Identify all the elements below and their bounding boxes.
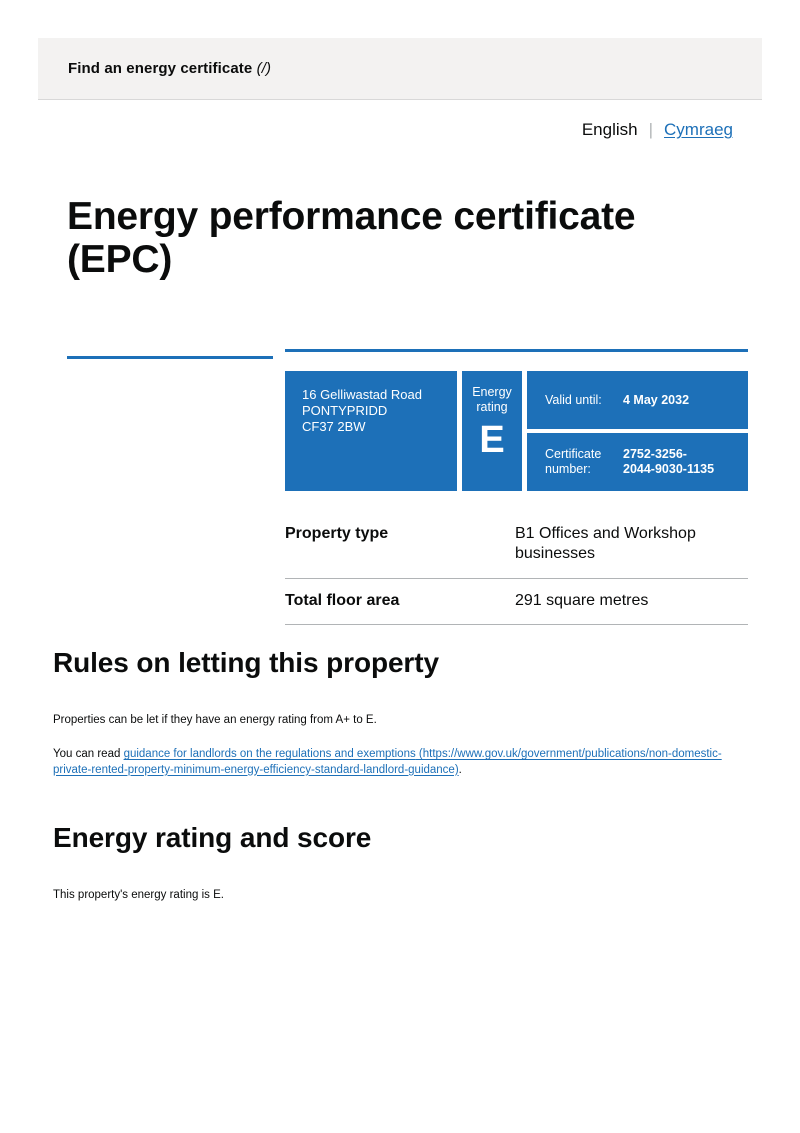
- page-title: Energy performance certificate (EPC): [67, 196, 727, 282]
- address-line-2: PONTYPRIDD: [302, 403, 457, 419]
- certificate-number-label-line-1: Certificate: [545, 447, 623, 462]
- service-name-label: Find an energy certificate: [68, 60, 252, 77]
- service-path-label: (/): [257, 60, 271, 77]
- energy-rating-label: Energy rating: [462, 385, 522, 415]
- landlord-guidance-link[interactable]: guidance for landlords on the regulation…: [53, 748, 722, 776]
- certificate-number-value-line-2: 2044-9030-1135: [623, 462, 714, 477]
- service-name[interactable]: Find an energy certificate (/): [68, 60, 271, 77]
- certificate-number-label: Certificate number:: [545, 447, 623, 477]
- energy-rating-label-line-2: rating: [462, 400, 522, 415]
- total-floor-area-value: 291 square metres: [515, 578, 748, 624]
- letting-rules-paragraph-2: You can read guidance for landlords on t…: [53, 747, 753, 778]
- table-row: Property type B1 Offices and Workshop bu…: [285, 512, 748, 578]
- certificate-number-label-line-2: number:: [545, 462, 623, 477]
- property-address-panel: 16 Gelliwastad Road PONTYPRIDD CF37 2BW: [285, 371, 457, 491]
- certificate-summary: 16 Gelliwastad Road PONTYPRIDD CF37 2BW …: [285, 371, 748, 491]
- letting-guidance-prefix: You can read: [53, 748, 124, 760]
- section-heading-letting-rules: Rules on letting this property: [53, 648, 439, 679]
- accent-rule-right: [285, 349, 748, 352]
- property-type-label: Property type: [285, 512, 515, 578]
- letting-guidance-suffix: .: [459, 764, 462, 776]
- certificate-number-value: 2752-3256- 2044-9030-1135: [623, 447, 714, 477]
- energy-rating-label-line-1: Energy: [462, 385, 522, 400]
- address-postcode: CF37 2BW: [302, 419, 457, 435]
- certificate-number-value-line-1: 2752-3256-: [623, 447, 714, 462]
- language-switcher: English | Cymraeg: [582, 121, 733, 138]
- section-heading-energy-rating-score: Energy rating and score: [53, 823, 371, 854]
- site-header: Find an energy certificate (/): [38, 38, 762, 100]
- accent-rule-left: [67, 356, 273, 359]
- valid-until-value-line-1: 4 May 2032: [623, 393, 689, 408]
- language-current-english: English: [582, 121, 638, 138]
- address-line-1: 16 Gelliwastad Road: [302, 387, 457, 403]
- total-floor-area-label: Total floor area: [285, 578, 515, 624]
- certificate-details-panel: Valid until: 4 May 2032 Certificate numb…: [527, 371, 748, 491]
- valid-until-row: Valid until: 4 May 2032: [527, 371, 748, 429]
- letting-rules-paragraph-1: Properties can be let if they have an en…: [53, 713, 743, 729]
- certificate-number-row: Certificate number: 2752-3256- 2044-9030…: [527, 433, 748, 491]
- language-link-cymraeg[interactable]: Cymraeg: [664, 121, 733, 138]
- table-row: Total floor area 291 square metres: [285, 578, 748, 624]
- landlord-guidance-link-text: guidance for landlords on the regulation…: [124, 748, 416, 760]
- language-separator: |: [649, 121, 653, 138]
- energy-rating-paragraph-1: This property's energy rating is E.: [53, 888, 743, 904]
- energy-rating-letter: E: [462, 421, 522, 459]
- energy-rating-panel: Energy rating E: [462, 371, 522, 491]
- property-type-value: B1 Offices and Workshop businesses: [515, 512, 748, 578]
- valid-until-value: 4 May 2032: [623, 393, 689, 408]
- property-details-table: Property type B1 Offices and Workshop bu…: [285, 512, 748, 625]
- valid-until-label: Valid until:: [545, 393, 623, 408]
